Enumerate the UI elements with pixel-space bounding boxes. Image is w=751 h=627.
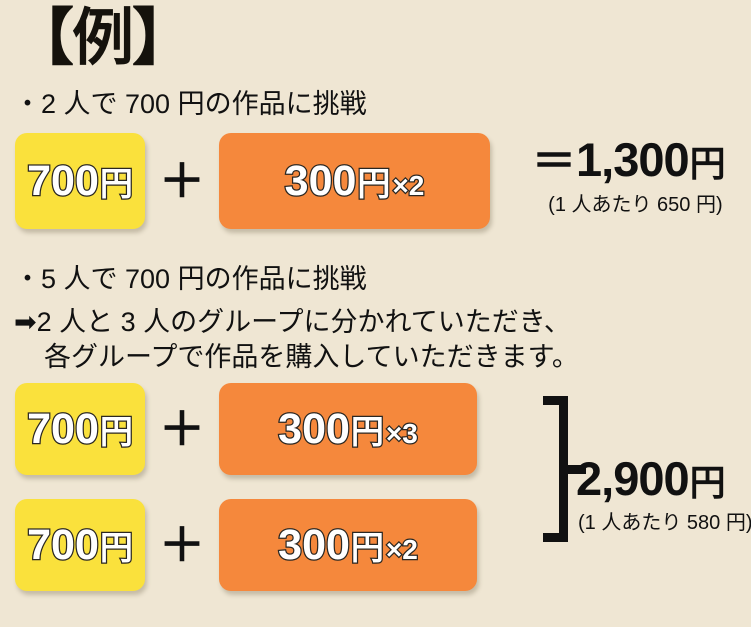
addon-price-multiplier: ×3 (386, 420, 418, 448)
addon-price-text: 300 円 ×3 (278, 408, 418, 451)
brace-arm-bottom (543, 533, 568, 542)
addon-price-yen: 円 (357, 167, 390, 200)
example-pricing-diagram: 【例】 ・2 人で 700 円の作品に挑戦 700 円 ＋ 300 円 ×2 ＝… (0, 0, 751, 627)
base-price-amount: 700 (27, 408, 99, 451)
plus-operator-icon: ＋ (159, 406, 205, 452)
addon-price-chip: 300 円 ×3 (219, 383, 477, 475)
section-1-total-main: ＝ 1,300 円 (532, 136, 725, 184)
equation-row-2: 700 円 ＋ 300 円 ×3 (15, 383, 477, 475)
base-price-text: 700 円 (27, 160, 133, 203)
section-2-note: ➡2 人と 3 人のグループに分かれていただき、 各グループで作品を購入していた… (14, 305, 579, 375)
addon-price-chip: 300 円 ×2 (219, 133, 490, 229)
base-price-text: 700 円 (27, 524, 133, 567)
section-1-per-person: (1 人あたり 650 円) (532, 188, 725, 217)
base-price-chip: 700 円 (15, 499, 145, 591)
addon-price-amount: 300 (285, 160, 357, 203)
addon-price-multiplier: ×2 (392, 172, 424, 200)
section-1-total-yen: 円 (690, 146, 725, 182)
equation-row-1: 700 円 ＋ 300 円 ×2 (15, 133, 490, 229)
addon-price-yen: 円 (351, 415, 384, 448)
section-1-total: ＝ 1,300 円 (1 人あたり 650 円) (532, 136, 725, 217)
equation-row-3: 700 円 ＋ 300 円 ×2 (15, 499, 477, 591)
group-brace-icon (541, 396, 575, 542)
addon-price-text: 300 円 ×2 (278, 524, 418, 567)
base-price-yen: 円 (100, 531, 133, 564)
plus-operator-icon: ＋ (159, 522, 205, 568)
section-2-heading: ・5 人で 700 円の作品に挑戦 (14, 263, 367, 297)
addon-price-text: 300 円 ×2 (285, 160, 425, 203)
section-2-per-person: (1 人あたり 580 円) (576, 506, 751, 535)
section-2-total: 2,900 円 (1 人あたり 580 円) (576, 455, 751, 535)
section-2-total-amount: 2,900 (576, 455, 689, 502)
base-price-amount: 700 (27, 524, 99, 567)
addon-price-yen: 円 (351, 531, 384, 564)
page-title: 【例】 (12, 8, 192, 70)
section-2-note-line-1: ➡2 人と 3 人のグループに分かれていただき、 (14, 305, 579, 340)
base-price-chip: 700 円 (15, 133, 145, 229)
equals-sign-icon: ＝ (532, 140, 575, 184)
base-price-chip: 700 円 (15, 383, 145, 475)
addon-price-multiplier: ×2 (386, 536, 418, 564)
section-2-note-line-2: 各グループで作品を購入していただきます。 (14, 340, 579, 375)
base-price-text: 700 円 (27, 408, 133, 451)
addon-price-chip: 300 円 ×2 (219, 499, 477, 591)
base-price-yen: 円 (100, 415, 133, 448)
section-2-total-yen: 円 (690, 465, 725, 501)
section-1-total-amount: 1,300 (576, 136, 689, 183)
base-price-amount: 700 (27, 160, 99, 203)
section-2-total-main: 2,900 円 (576, 455, 751, 502)
addon-price-amount: 300 (278, 524, 350, 567)
base-price-yen: 円 (100, 167, 133, 200)
addon-price-amount: 300 (278, 408, 350, 451)
plus-operator-icon: ＋ (159, 158, 205, 204)
section-1-heading: ・2 人で 700 円の作品に挑戦 (14, 88, 367, 122)
